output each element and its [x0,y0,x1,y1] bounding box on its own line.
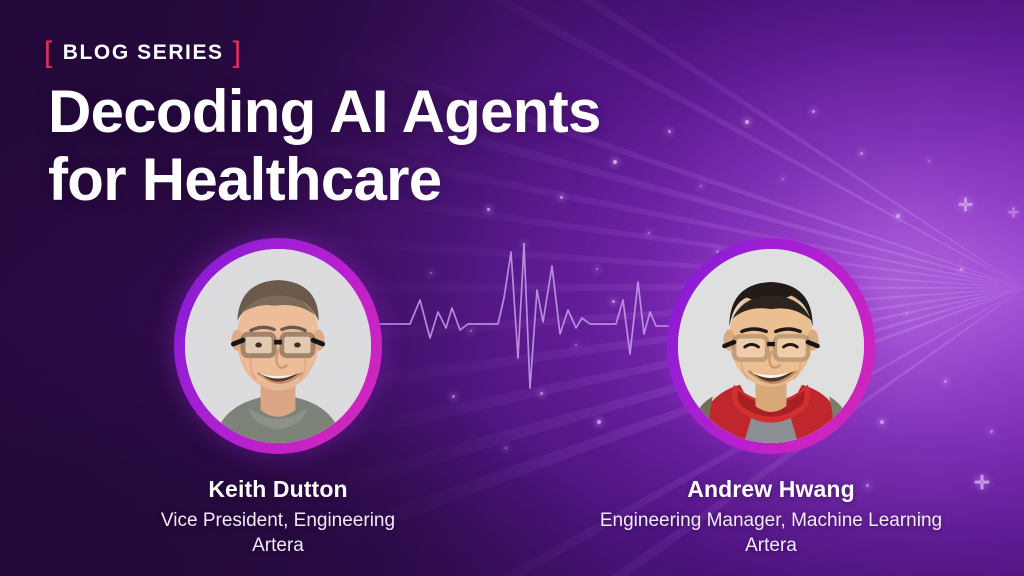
avatar [185,249,371,443]
avatar [678,249,864,443]
sparkle-plus-icon: ✛ [1008,206,1019,219]
sparkle-plus-icon: ✛ [958,196,973,214]
avatar-ring [174,238,382,454]
sparkle-plus-icon: ✛ [974,474,990,493]
speaker-name: Andrew Hwang [566,476,976,503]
page-title: Decoding AI Agents for Healthcare [48,78,728,215]
eyebrow-blog-series: [ BLOG SERIES ] [44,38,242,68]
avatar-ring [667,238,875,454]
headline-line-1: Decoding AI Agents [48,78,728,146]
speaker-role: Engineering Manager, Machine Learning [566,508,976,533]
speaker-role: Vice President, Engineering [93,508,463,533]
blog-series-banner: ✛ ✛ ✛ ✛ [ BLOG SERIES ] Decoding AI Agen… [0,0,1024,576]
bracket-left: [ [44,38,54,68]
speaker-org: Artera [93,533,463,558]
speaker-name: Keith Dutton [93,476,463,503]
speaker-card-keith-dutton: Keith Dutton Vice President, Engineering… [93,238,463,559]
speaker-card-andrew-hwang: Andrew Hwang Engineering Manager, Machin… [566,238,976,559]
bracket-right: ] [233,38,243,68]
eyebrow-label: BLOG SERIES [63,41,224,65]
headline-line-2: for Healthcare [48,146,728,214]
speaker-org: Artera [566,533,976,558]
